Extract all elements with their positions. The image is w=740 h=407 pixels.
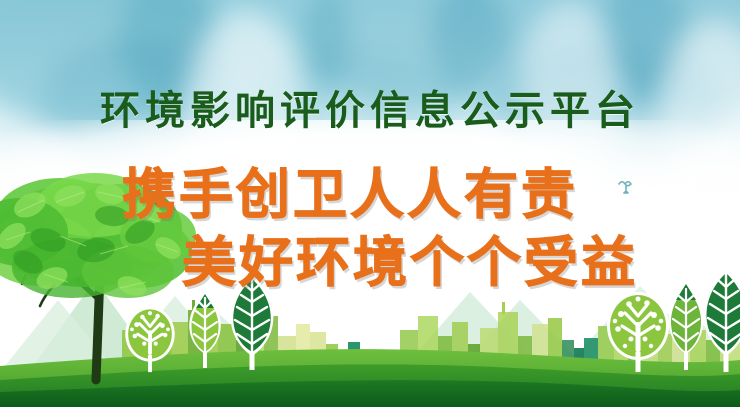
slogan-line-2: 美好环境个个受益 — [40, 218, 740, 297]
page-title: 环境影响评价信息公示平台 — [0, 78, 740, 136]
bird-icon — [618, 180, 634, 194]
environmental-banner: 环境影响评价信息公示平台 携手创卫人人有责 美好环境个个受益 — [0, 0, 740, 407]
